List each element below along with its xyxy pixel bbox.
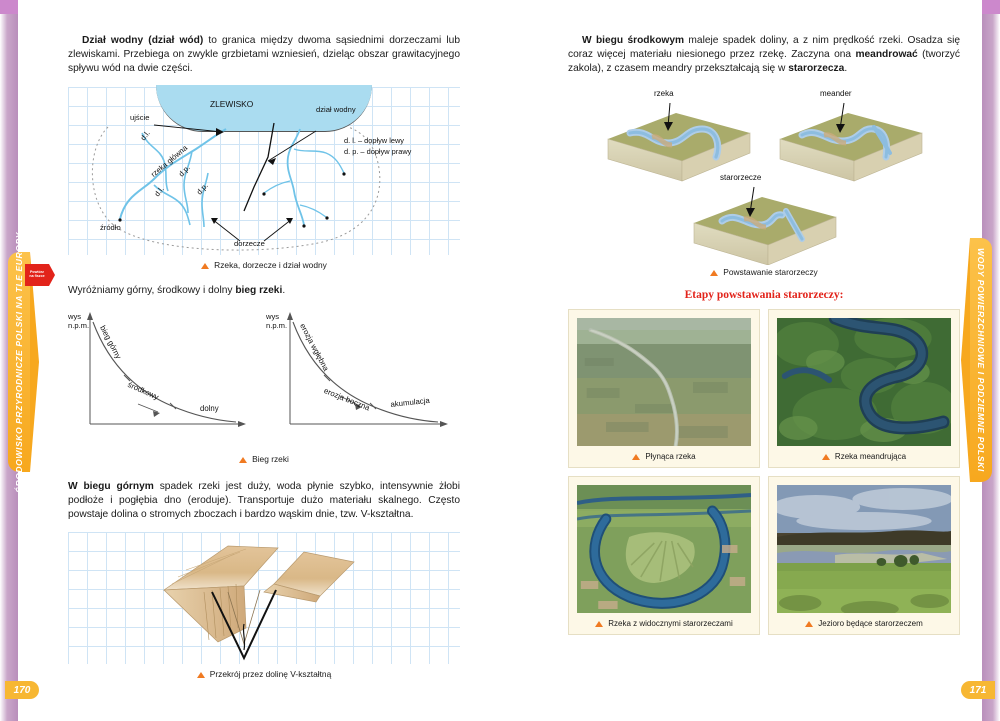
block-label-meander: meander (820, 89, 852, 98)
photo-grid: Płynąca rzeka (568, 309, 960, 635)
figure-oxbow-formation-caption: Powstawanie starorzeczy (568, 267, 960, 277)
figure-v-valley-caption-text: Przekrój przez dolinę V-kształtną (210, 669, 332, 679)
right-tab-arrow (961, 238, 970, 482)
term-dzial-wodny: Dział wodny (dział wód) (82, 35, 203, 46)
caption-triangle-icon (201, 263, 209, 269)
aerial-meander-photo (777, 318, 951, 446)
caption-triangle-icon (822, 454, 830, 460)
paragraph-bieg-gorny: W biegu górnym spadek rzeki jest duży, w… (68, 480, 460, 523)
page-corner-right (982, 0, 1000, 14)
block-3 (694, 197, 836, 265)
sidebar-tab-left-label: ŚRODOWISKO PRZYRODNICZE POLSKI NA TLE EU… (14, 232, 24, 493)
photo-caption-text: Płynąca rzeka (645, 452, 695, 461)
caption-triangle-icon (710, 270, 718, 276)
caption-triangle-icon (595, 621, 603, 627)
photo-caption-text: Rzeka z widocznymi starorzeczami (608, 619, 732, 628)
aerial-oxbow-photo (577, 485, 751, 613)
left-page-column: Dział wodny (dział wód) to granica międz… (68, 34, 460, 679)
term-bieg-rzeki: bieg rzeki (235, 285, 282, 296)
block-label-rzeka: rzeka (654, 89, 674, 98)
block-2 (780, 113, 922, 181)
figure-oxbow-formation-caption-text: Powstawanie starorzeczy (723, 267, 818, 277)
paragraph-dzial-wodny: Dział wodny (dział wód) to granica międz… (68, 34, 460, 77)
photo-caption: Jezioro będące starorzeczem (777, 619, 951, 628)
aerial-river-photo (577, 318, 751, 446)
right-page-column: W biegu środkowym maleje spadek doliny, … (568, 34, 960, 635)
v-valley-svg (68, 532, 460, 664)
axis-label-npm-b: n.p.m. (266, 321, 287, 331)
caption-triangle-icon (805, 621, 813, 627)
river-basin-svg (68, 87, 460, 255)
page-number-left: 170 (5, 681, 39, 699)
figure-river-profiles: wys n.p.m. bieg górny środkowy dolny wys… (68, 308, 460, 458)
section-heading-etapy: Etapy powstawania starorzeczy: (568, 289, 960, 301)
legend-dopyw-lewy: d. l. – dopływ lewy (344, 135, 411, 146)
block-label-starorzecze: starorzecze (720, 173, 761, 182)
flashcard-bookmark[interactable]: Powtórz na fiszce (25, 264, 49, 286)
figure-oxbow-formation: rzeka meander starorzecze (568, 87, 960, 265)
figure-v-valley-caption: Przekrój przez dolinę V-kształtną (68, 669, 460, 679)
photo-card-rzeka-starorzecza[interactable]: Rzeka z widocznymi starorzeczami (568, 476, 760, 635)
paragraph-bieg-rzeki-post: . (282, 285, 285, 296)
photo-caption: Płynąca rzeka (577, 452, 751, 461)
flashcard-line-2: na fiszce (25, 274, 49, 278)
page-number-right: 171 (961, 681, 995, 699)
sidebar-tab-right[interactable]: WODY POWIERZCHNIOWE I PODZIEMNE POLSKI (970, 238, 992, 482)
paragraph-bieg-rzeki-pre: Wyróżniamy górny, środkowy i dolny (68, 285, 235, 296)
sidebar-tab-right-label: WODY POWIERZCHNIOWE I PODZIEMNE POLSKI (976, 248, 986, 472)
axis-label-npm-a: n.p.m. (68, 321, 89, 331)
photo-card-jezioro-starorzecze[interactable]: Jezioro będące starorzeczem (768, 476, 960, 635)
photo-caption: Rzeka meandrująca (777, 452, 951, 461)
axis-label-wys-a: wys (68, 312, 89, 322)
term-bieg-srodkowy: W biegu środkowym (582, 35, 684, 46)
paragraph-bieg-srodkowy: W biegu środkowym maleje spadek doliny, … (568, 34, 960, 77)
label-zrodlo: źródło (100, 223, 121, 232)
term-starorzecza: starorzecza (788, 63, 844, 74)
photo-caption: Rzeka z widocznymi starorzeczami (577, 619, 751, 628)
label-dorzecze: dorzecze (234, 239, 265, 248)
photo-caption-text: Jezioro będące starorzeczem (818, 619, 923, 628)
photo-card-plynaca-rzeka[interactable]: Płynąca rzeka (568, 309, 760, 468)
figure-river-basin-caption-text: Rzeka, dorzecze i dział wodny (214, 260, 327, 270)
page-corner-left (0, 0, 18, 14)
label-zlewisko: ZLEWISKO (210, 99, 253, 109)
paragraph-bieg-srodkowy-end: . (844, 63, 847, 74)
figure-river-basin-caption: Rzeka, dorzecze i dział wodny (68, 260, 460, 270)
caption-triangle-icon (197, 672, 205, 678)
textbook-spread: ŚRODOWISKO PRZYRODNICZE POLSKI NA TLE EU… (0, 0, 1000, 721)
river-profiles-svg (68, 308, 460, 448)
label-ujscie: ujście (130, 113, 149, 122)
caption-triangle-icon (632, 454, 640, 460)
term-meandrowac: meandrować (855, 49, 917, 60)
photo-card-rzeka-meandrujaca[interactable]: Rzeka meandrująca (768, 309, 960, 468)
oxbow-lake-photo (777, 485, 951, 613)
curve-label-dolny: dolny (200, 404, 219, 413)
figure-river-basin: ZLEWISKO dział wodny ujście rzeka główna… (68, 87, 460, 255)
legend-dopyw-prawy: d. p. – dopływ prawy (344, 146, 411, 157)
photo-caption-text: Rzeka meandrująca (835, 452, 906, 461)
label-dzial-wodny: dział wodny (316, 105, 356, 114)
paragraph-bieg-rzeki: Wyróżniamy górny, środkowy i dolny bieg … (68, 284, 460, 298)
oxbow-blocks-svg (568, 87, 960, 265)
axis-label-wys-b: wys (266, 312, 287, 322)
block-1 (608, 113, 750, 181)
term-bieg-gorny: W biegu górnym (68, 481, 154, 492)
figure-v-valley (68, 532, 460, 664)
